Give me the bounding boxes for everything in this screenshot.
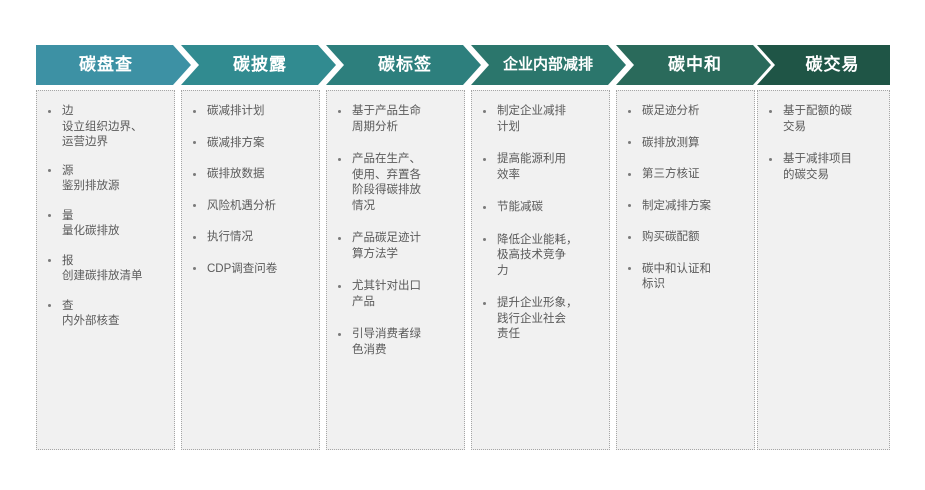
chevron-shape-4: [471, 45, 626, 85]
list-item-text: 碳排放测算: [642, 136, 746, 152]
list-item-text: 制定企业减排 计划: [497, 104, 601, 135]
list-item-text: 碳减排方案: [207, 136, 311, 152]
bullet-dot-icon: [628, 141, 631, 144]
list-item: 边 设立组织边界、 运营边界: [45, 104, 166, 151]
list-item: 量 量化碳排放: [45, 209, 166, 240]
list-item-text: 产品在生产、 使用、弃置各 阶段得碳排放 情况: [352, 152, 456, 214]
list-item: 执行情况: [190, 230, 311, 246]
list-item: 提高能源利用 效率: [480, 152, 601, 183]
list-item-subtext: 鉴别排放源: [62, 179, 166, 195]
stage-2-header[interactable]: 碳披露: [181, 45, 336, 85]
stage-4-bullet-list: 制定企业减排 计划 提高能源利用 效率 节能减碳 降低企业能耗， 极高技术竞争 …: [480, 104, 601, 343]
bullet-dot-icon: [193, 204, 196, 207]
list-item-text: 基于产品生命 周期分析: [352, 104, 456, 135]
list-item: 基于减排项目 的碳交易: [766, 152, 881, 183]
bullet-dot-icon: [483, 206, 486, 209]
list-item: 碳减排方案: [190, 136, 311, 152]
bullet-dot-icon: [338, 158, 341, 161]
stage-1-bullet-list: 边 设立组织边界、 运营边界 源 鉴别排放源 量 量化碳排放 报 创建碳排放清单: [45, 104, 166, 330]
stage-tan-pan-cha: 碳盘查 边 设立组织边界、 运营边界 源 鉴别排放源 量 量化碳排放: [36, 45, 191, 85]
stage-4-panel: 制定企业减排 计划 提高能源利用 效率 节能减碳 降低企业能耗， 极高技术竞争 …: [471, 90, 610, 450]
list-item-text: 第三方核证: [642, 167, 746, 183]
list-item-subtext: 量化碳排放: [62, 224, 166, 240]
list-item: 碳排放数据: [190, 167, 311, 183]
list-item: CDP调查问卷: [190, 262, 311, 278]
list-item: 尤其针对出口 产品: [335, 279, 456, 310]
list-item: 购买碳配额: [625, 230, 746, 246]
list-item-text: 节能减碳: [497, 200, 601, 216]
list-item-text: 尤其针对出口 产品: [352, 279, 456, 310]
list-item: 源 鉴别排放源: [45, 164, 166, 195]
stage-tan-pi-lu: 碳披露 碳减排计划 碳减排方案 碳排放数据 风险机遇分析: [181, 45, 336, 85]
list-item: 碳足迹分析: [625, 104, 746, 120]
list-item-text: 碳中和认证和 标识: [642, 262, 746, 293]
stage-3-panel: 基于产品生命 周期分析 产品在生产、 使用、弃置各 阶段得碳排放 情况 产品碳足…: [326, 90, 465, 450]
list-item-text: 基于配额的碳 交易: [783, 104, 881, 135]
bullet-dot-icon: [483, 238, 486, 241]
list-item: 产品碳足迹计 算方法学: [335, 231, 456, 262]
stage-5-header[interactable]: 碳中和: [616, 45, 771, 85]
stage-4-header[interactable]: 企业内部减排: [471, 45, 626, 85]
list-item: 提升企业形象， 践行企业社会 责任: [480, 296, 601, 343]
bullet-dot-icon: [338, 110, 341, 113]
list-item: 制定减排方案: [625, 199, 746, 215]
list-item-text: 量: [62, 209, 166, 225]
bullet-dot-icon: [483, 158, 486, 161]
list-item: 节能减碳: [480, 200, 601, 216]
stage-3-bullet-list: 基于产品生命 周期分析 产品在生产、 使用、弃置各 阶段得碳排放 情况 产品碳足…: [335, 104, 456, 358]
bullet-dot-icon: [338, 333, 341, 336]
list-item-text: 碳减排计划: [207, 104, 311, 120]
list-item-text: 碳足迹分析: [642, 104, 746, 120]
list-item: 引导消费者绿 色消费: [335, 327, 456, 358]
chevron-shape-2: [181, 45, 336, 85]
bullet-dot-icon: [193, 173, 196, 176]
list-item: 产品在生产、 使用、弃置各 阶段得碳排放 情况: [335, 152, 456, 214]
list-item-text: 提升企业形象， 践行企业社会 责任: [497, 296, 601, 343]
list-item: 降低企业能耗， 极高技术竞争 力: [480, 233, 601, 280]
stage-tan-jiao-yi: 碳交易 基于配额的碳 交易 基于减排项目 的碳交易: [757, 45, 890, 85]
list-item: 碳减排计划: [190, 104, 311, 120]
list-item-text: 查: [62, 299, 166, 315]
stage-tan-biao-qian: 碳标签 基于产品生命 周期分析 产品在生产、 使用、弃置各 阶段得碳排放 情况 …: [326, 45, 481, 85]
list-item: 报 创建碳排放清单: [45, 254, 166, 285]
carbon-management-process-diagram: 碳盘查 边 设立组织边界、 运营边界 源 鉴别排放源 量 量化碳排放: [0, 0, 925, 490]
bullet-dot-icon: [628, 204, 631, 207]
list-item-text: 提高能源利用 效率: [497, 152, 601, 183]
bullet-dot-icon: [628, 236, 631, 239]
list-item: 第三方核证: [625, 167, 746, 183]
list-item-text: 引导消费者绿 色消费: [352, 327, 456, 358]
list-item: 风险机遇分析: [190, 199, 311, 215]
list-item: 查 内外部核查: [45, 299, 166, 330]
chevron-shape-3: [326, 45, 481, 85]
bullet-dot-icon: [483, 110, 486, 113]
list-item-text: CDP调查问卷: [207, 262, 311, 278]
stage-1-panel: 边 设立组织边界、 运营边界 源 鉴别排放源 量 量化碳排放 报 创建碳排放清单: [36, 90, 175, 450]
bullet-dot-icon: [483, 302, 486, 305]
list-item: 制定企业减排 计划: [480, 104, 601, 135]
bullet-dot-icon: [48, 110, 51, 113]
bullet-dot-icon: [193, 141, 196, 144]
stage-2-bullet-list: 碳减排计划 碳减排方案 碳排放数据 风险机遇分析 执行情况: [190, 104, 311, 277]
bullet-dot-icon: [48, 304, 51, 307]
bullet-dot-icon: [628, 173, 631, 176]
chevron-shape-5: [616, 45, 771, 85]
stage-5-bullet-list: 碳足迹分析 碳排放测算 第三方核证 制定减排方案 购买碳配额: [625, 104, 746, 293]
bullet-dot-icon: [338, 237, 341, 240]
list-item: 基于配额的碳 交易: [766, 104, 881, 135]
list-item-text: 风险机遇分析: [207, 199, 311, 215]
bullet-dot-icon: [193, 236, 196, 239]
list-item: 基于产品生命 周期分析: [335, 104, 456, 135]
bullet-dot-icon: [193, 267, 196, 270]
list-item-subtext: 创建碳排放清单: [62, 269, 166, 285]
bullet-dot-icon: [48, 169, 51, 172]
list-item-text: 报: [62, 254, 166, 270]
bullet-dot-icon: [769, 158, 772, 161]
bullet-dot-icon: [338, 285, 341, 288]
chevron-shape-6: [757, 45, 890, 85]
list-item-text: 降低企业能耗， 极高技术竞争 力: [497, 233, 601, 280]
bullet-dot-icon: [628, 267, 631, 270]
stage-tan-zhong-he: 碳中和 碳足迹分析 碳排放测算 第三方核证 制定减排方案: [616, 45, 771, 85]
list-item-text: 产品碳足迹计 算方法学: [352, 231, 456, 262]
bullet-dot-icon: [193, 110, 196, 113]
bullet-dot-icon: [48, 259, 51, 262]
list-item: 碳排放测算: [625, 136, 746, 152]
stage-3-header[interactable]: 碳标签: [326, 45, 481, 85]
list-item-text: 基于减排项目 的碳交易: [783, 152, 881, 183]
list-item-subtext: 内外部核查: [62, 314, 166, 330]
stage-5-panel: 碳足迹分析 碳排放测算 第三方核证 制定减排方案 购买碳配额: [616, 90, 755, 450]
chevron-shape-1: [36, 45, 191, 85]
bullet-dot-icon: [769, 110, 772, 113]
stage-2-panel: 碳减排计划 碳减排方案 碳排放数据 风险机遇分析 执行情况: [181, 90, 320, 450]
stage-1-header[interactable]: 碳盘查: [36, 45, 191, 85]
list-item-text: 源: [62, 164, 166, 180]
stage-6-panel: 基于配额的碳 交易 基于减排项目 的碳交易: [757, 90, 890, 450]
bullet-dot-icon: [48, 214, 51, 217]
list-item: 碳中和认证和 标识: [625, 262, 746, 293]
list-item-subtext: 设立组织边界、 运营边界: [62, 120, 166, 151]
stage-6-bullet-list: 基于配额的碳 交易 基于减排项目 的碳交易: [766, 104, 881, 183]
list-item-text: 制定减排方案: [642, 199, 746, 215]
bullet-dot-icon: [628, 110, 631, 113]
stage-6-header[interactable]: 碳交易: [757, 45, 890, 85]
list-item-text: 碳排放数据: [207, 167, 311, 183]
list-item-text: 边: [62, 104, 166, 120]
list-item-text: 购买碳配额: [642, 230, 746, 246]
list-item-text: 执行情况: [207, 230, 311, 246]
stage-qi-ye-nei-bu-jian-pai: 企业内部减排 制定企业减排 计划 提高能源利用 效率 节能减碳 降低企业: [471, 45, 626, 85]
